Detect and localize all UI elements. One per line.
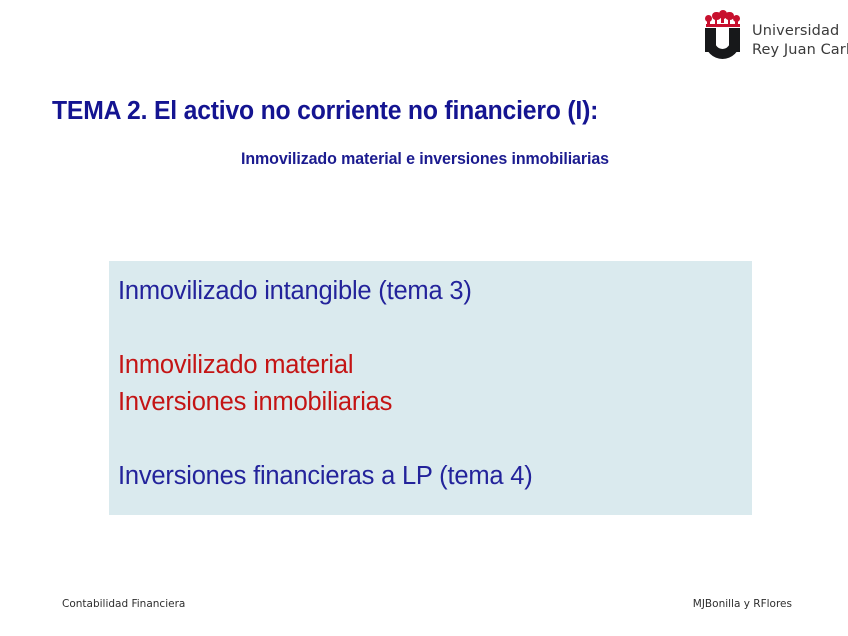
letter-u-icon [703, 28, 743, 60]
slide-title: TEMA 2. El activo no corriente no financ… [52, 96, 598, 126]
logo-wordmark-line2: Rey Juan Carlos [752, 41, 848, 60]
content-spacer-1 [118, 310, 744, 347]
content-line-inmobiliarias: Inversiones inmobiliarias [118, 384, 744, 421]
footer-authors: MJBonilla y RFlores [693, 597, 792, 611]
content-line-list: Inmovilizado intangible (tema 3) Inmovil… [118, 273, 744, 495]
slide-canvas: Universidad Rey Juan Carlos TEMA 2. El a… [0, 0, 848, 636]
content-spacer-2 [118, 421, 744, 458]
urjc-crown-u-icon [703, 8, 743, 60]
logo-wordmark: Universidad Rey Juan Carlos [752, 22, 848, 60]
university-logo: Universidad Rey Juan Carlos [703, 6, 845, 60]
slide-subtitle: Inmovilizado material e inversiones inmo… [241, 149, 609, 170]
footer-course-name: Contabilidad Financiera [62, 597, 185, 611]
content-line-intangible: Inmovilizado intangible (tema 3) [118, 273, 744, 310]
content-line-material: Inmovilizado material [118, 347, 744, 384]
logo-wordmark-line1: Universidad [752, 22, 848, 41]
content-panel: Inmovilizado intangible (tema 3) Inmovil… [109, 261, 752, 515]
crown-icon [704, 10, 741, 28]
content-line-financieras: Inversiones financieras a LP (tema 4) [118, 458, 744, 495]
